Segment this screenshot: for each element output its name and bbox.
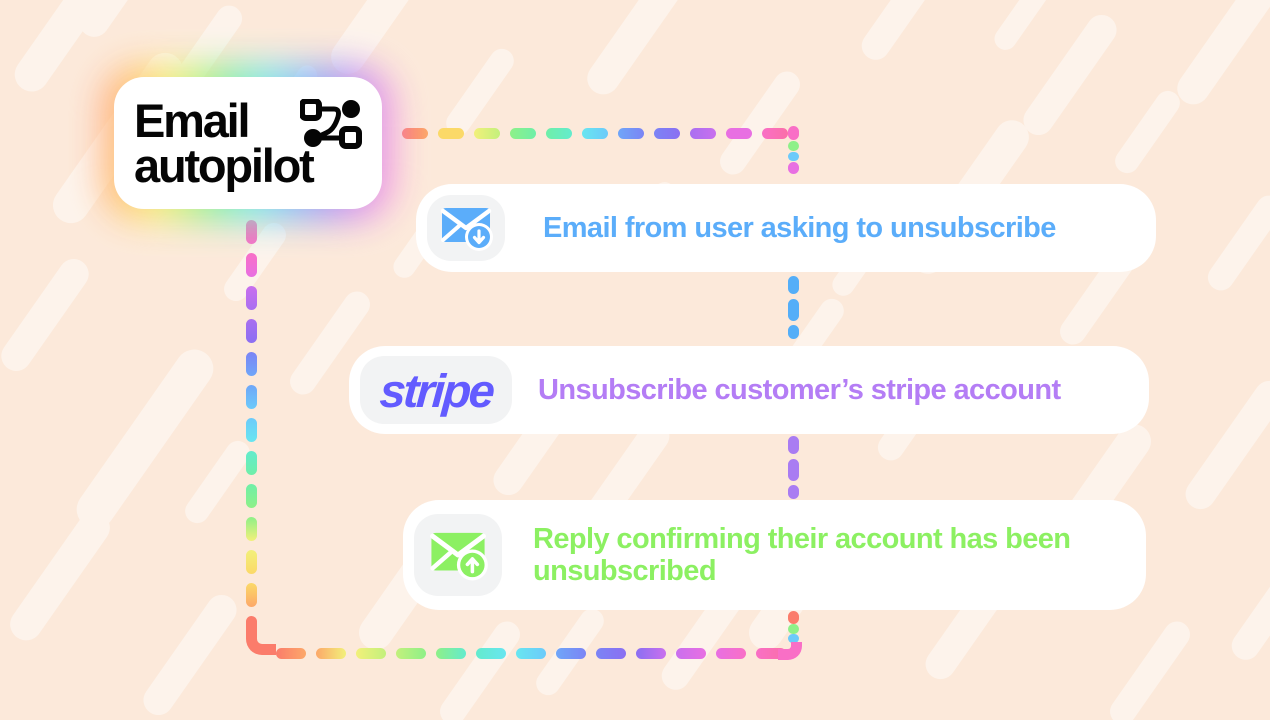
step-card-label: Email from user asking to unsubscribe [543,212,1056,244]
stripe-logo-icon-tile: stripe [360,356,512,424]
logo-card: Email autopilot [114,77,382,209]
envelope-download-icon-tile [427,195,505,261]
logo-title-line-1: Email [134,97,248,144]
step-card-label: Reply confirming their account has been … [533,523,1133,588]
envelope-download-icon [438,205,494,251]
envelope-upload-icon [427,529,489,581]
node-graph-icon [300,99,362,149]
step-card-email-received[interactable]: Email from user asking to unsubscribe [416,184,1156,272]
logo-card-surface: Email autopilot [114,77,382,209]
stripe-logo-icon: stripe [378,363,494,418]
step-card-label: Unsubscribe customer’s stripe account [538,374,1061,406]
envelope-upload-icon-tile [414,514,502,596]
step-card-reply-confirmation[interactable]: Reply confirming their account has been … [403,500,1146,610]
step-card-stripe-unsubscribe[interactable]: stripe Unsubscribe customer’s stripe acc… [349,346,1149,434]
flow-diagram-canvas: Email autopilot [0,0,1270,720]
logo-title-line-2: autopilot [134,142,313,189]
